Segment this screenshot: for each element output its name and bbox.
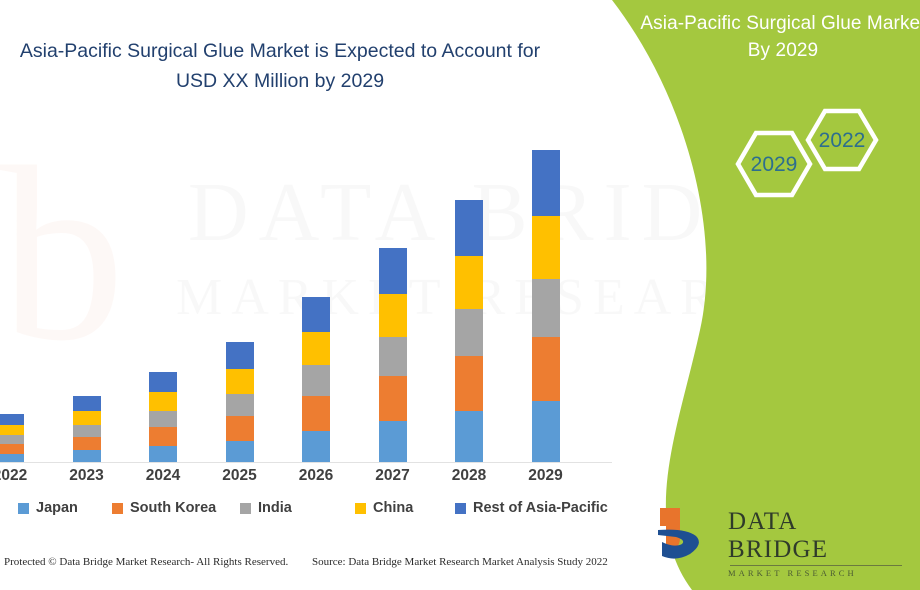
x-tick-2027: 2027: [358, 467, 428, 485]
x-tick-2029: 2029: [511, 467, 581, 485]
segment-2024-india: [149, 411, 177, 428]
x-tick-2026: 2026: [281, 467, 351, 485]
x-axis-line: [0, 462, 612, 463]
segment-2023-rest-of-asia-pacific: [73, 396, 101, 411]
segment-2028-south-korea: [455, 356, 483, 410]
segment-2022-india: [0, 435, 24, 444]
legend-swatch-icon: [112, 503, 123, 514]
segment-2028-china: [455, 256, 483, 309]
legend-swatch-icon: [355, 503, 366, 514]
segment-2023-japan: [73, 450, 101, 462]
bar-2029[interactable]: [532, 150, 560, 462]
segment-2024-japan: [149, 446, 177, 463]
logo-main-text: DATA BRIDGE: [728, 508, 902, 564]
x-axis-tick-labels: 20222023202420252026202720282029: [0, 467, 620, 493]
segment-2029-china: [532, 216, 560, 279]
copyright-text: Protected © Data Bridge Market Research-…: [4, 556, 288, 568]
segment-2025-china: [226, 369, 254, 394]
hexagon-2022-label: 2022: [819, 129, 866, 152]
infographic-canvas: Asia-Pacific Surgical Glue Market is Exp…: [0, 0, 920, 590]
legend-label: India: [258, 500, 292, 516]
legend-item-india[interactable]: India: [240, 500, 292, 516]
segment-2022-china: [0, 425, 24, 435]
stacked-bar-chart: [0, 140, 620, 465]
segment-2023-china: [73, 411, 101, 425]
segment-2029-rest-of-asia-pacific: [532, 150, 560, 216]
logo-sub-text: MARKET RESEARCH: [728, 568, 902, 578]
legend-item-rest-of-asia-pacific[interactable]: Rest of Asia-Pacific: [455, 500, 608, 516]
segment-2026-india: [302, 365, 330, 396]
segment-2023-south-korea: [73, 437, 101, 450]
segment-2026-japan: [302, 431, 330, 462]
legend-item-south-korea[interactable]: South Korea: [112, 500, 216, 516]
legend-item-china[interactable]: China: [355, 500, 413, 516]
company-logo: DATA BRIDGE MARKET RESEARCH: [652, 504, 902, 566]
segment-2025-india: [226, 394, 254, 416]
x-tick-2025: 2025: [205, 467, 275, 485]
legend-label: China: [373, 500, 413, 516]
logo-divider: [730, 565, 902, 566]
panel-title: Asia-Pacific Surgical Glue MarketBy 2029: [618, 10, 920, 64]
segment-2028-india: [455, 309, 483, 357]
green-shape: [600, 0, 920, 590]
logo-wordmark: DATA BRIDGE MARKET RESEARCH: [728, 508, 902, 578]
segment-2022-japan: [0, 454, 24, 462]
segment-2022-rest-of-asia-pacific: [0, 414, 24, 425]
segment-2027-south-korea: [379, 376, 407, 421]
brand-panel: Asia-Pacific Surgical Glue MarketBy 2029…: [600, 0, 920, 590]
hexagon-2029-label: 2029: [751, 153, 798, 176]
x-tick-2028: 2028: [434, 467, 504, 485]
legend-swatch-icon: [455, 503, 466, 514]
segment-2025-japan: [226, 441, 254, 462]
segment-2022-south-korea: [0, 444, 24, 454]
legend-label: South Korea: [130, 500, 216, 516]
hexagon-group: 2029 2022: [718, 104, 918, 224]
segment-2024-south-korea: [149, 427, 177, 445]
panel-title-line-1: Asia-Pacific Surgical Glue Market: [618, 10, 920, 37]
segment-2029-japan: [532, 401, 560, 462]
segment-2027-india: [379, 337, 407, 377]
chart-panel: Asia-Pacific Surgical Glue Market is Exp…: [0, 0, 640, 590]
bar-2026[interactable]: [302, 297, 330, 462]
chart-legend: JapanSouth KoreaIndiaChinaRest of Asia-P…: [0, 500, 620, 522]
bar-2028[interactable]: [455, 200, 483, 462]
bar-2024[interactable]: [149, 372, 177, 462]
segment-2028-japan: [455, 411, 483, 462]
segment-2024-china: [149, 392, 177, 411]
legend-label: Rest of Asia-Pacific: [473, 500, 608, 516]
segment-2028-rest-of-asia-pacific: [455, 200, 483, 255]
source-text: Source: Data Bridge Market Research Mark…: [312, 556, 608, 568]
bar-2022[interactable]: [0, 414, 24, 462]
legend-label: Japan: [36, 500, 78, 516]
x-tick-2023: 2023: [52, 467, 122, 485]
segment-2025-south-korea: [226, 416, 254, 441]
page-title: Asia-Pacific Surgical Glue Market is Exp…: [0, 36, 560, 96]
x-tick-2022: 2022: [0, 467, 45, 485]
legend-item-japan[interactable]: Japan: [18, 500, 78, 516]
segment-2025-rest-of-asia-pacific: [226, 342, 254, 368]
x-tick-2024: 2024: [128, 467, 198, 485]
segment-2023-india: [73, 425, 101, 437]
panel-title-line-2: By 2029: [618, 37, 920, 64]
segment-2026-rest-of-asia-pacific: [302, 297, 330, 332]
bar-2025[interactable]: [226, 342, 254, 462]
legend-swatch-icon: [240, 503, 251, 514]
legend-swatch-icon: [18, 503, 29, 514]
segment-2029-south-korea: [532, 337, 560, 401]
segment-2024-rest-of-asia-pacific: [149, 372, 177, 392]
bar-2027[interactable]: [379, 248, 407, 462]
segment-2029-india: [532, 279, 560, 337]
logo-mark-icon: [652, 504, 722, 564]
segment-2027-china: [379, 294, 407, 337]
footer: Protected © Data Bridge Market Research-…: [0, 556, 640, 576]
bar-2023[interactable]: [73, 396, 101, 462]
segment-2027-rest-of-asia-pacific: [379, 248, 407, 293]
segment-2027-japan: [379, 421, 407, 462]
segment-2026-china: [302, 332, 330, 365]
segment-2026-south-korea: [302, 396, 330, 431]
